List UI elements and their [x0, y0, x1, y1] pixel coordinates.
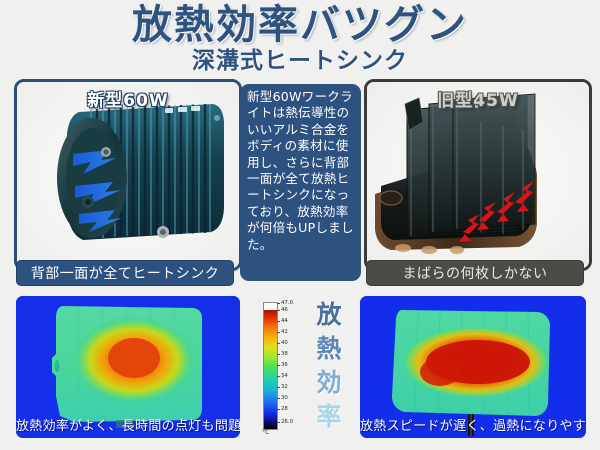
colorbar-tick: 44 — [281, 317, 288, 325]
colorbar-tick: 32 — [281, 383, 288, 391]
page-subtitle: 深溝式ヒートシンク — [0, 48, 600, 74]
colorbar-gradient — [263, 302, 278, 430]
vertical-heading-heat-dissipation: 放 熱 効 率 — [303, 298, 355, 438]
thermal-new-caption: 放熱効率がよく、長時間の点灯も問題ない — [16, 416, 240, 438]
thermal-image-new-model: 放熱効率がよく、長時間の点灯も問題ない — [16, 296, 240, 438]
colorbar-tick: 28 — [281, 405, 288, 413]
colorbar-ticks: 47.0 46 44 42 40 38 36 34 32 30 28 26.0 — [277, 300, 303, 432]
product-panel-new-model: 新型60W — [14, 79, 242, 271]
vertical-heading-char: 熱 — [303, 332, 355, 366]
product-panel-old-model: 旧型45W — [364, 79, 592, 271]
colorbar-tick: 38 — [281, 350, 288, 358]
new-model-caption: 背部一面が全てヒートシンク — [16, 260, 234, 286]
colorbar-tick: 30 — [281, 394, 288, 402]
colorbar-tick: 46 — [281, 306, 288, 314]
thermal-old-caption: 放熱スピードが遅く、過熱になりやすい — [360, 416, 586, 438]
colorbar-tick: 40 — [281, 339, 288, 347]
title-area: 放熱効率バツグン 深溝式ヒートシンク — [0, 0, 600, 76]
colorbar-unit-label: °C — [262, 429, 269, 436]
page-title: 放熱効率バツグン — [0, 2, 600, 48]
colorbar-tick: 34 — [281, 372, 288, 380]
colorbar-tick: 26.0 — [281, 418, 293, 426]
colorbar-tick: 42 — [281, 328, 288, 336]
colorbar-tick: 36 — [281, 361, 288, 369]
old-model-caption: まばらの何枚しかない — [366, 260, 584, 286]
vertical-heading-char: 率 — [303, 400, 355, 434]
thermal-image-old-model: 放熱スピードが遅く、過熱になりやすい — [360, 296, 586, 438]
product-description-text: 新型60Wワークライトは熱伝導性のいいアルミ合金をボディの素材に使用し、さらに背… — [240, 84, 361, 281]
colorbar-top-cap — [264, 303, 277, 310]
vertical-heading-char: 効 — [303, 366, 355, 400]
old-model-label: 旧型45W — [367, 86, 589, 111]
vertical-heading-char: 放 — [303, 298, 355, 332]
thermal-colorbar: 47.0 46 44 42 40 38 36 34 32 30 28 26.0 … — [259, 300, 303, 436]
new-model-label: 新型60W — [17, 86, 239, 111]
